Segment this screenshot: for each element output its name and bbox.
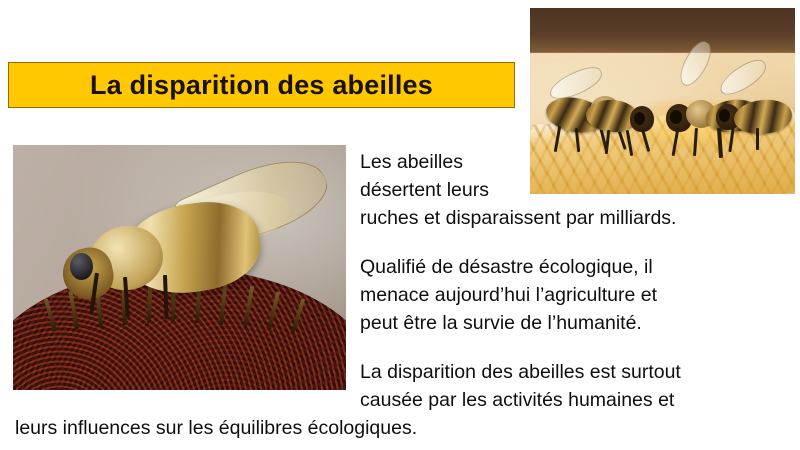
bee-eye (670, 110, 682, 124)
bee-on-flower-photo (13, 145, 346, 390)
honeycomb-background-band (530, 8, 795, 56)
paragraph-three: La disparition des abeilles est surtout … (360, 358, 790, 414)
paragraph-one: Les abeilles désertent leurs ruches et d… (360, 148, 790, 232)
slide-canvas: La disparition des abeilles (0, 0, 800, 450)
paragraph-four: leurs influences sur les équilibres écol… (15, 414, 615, 442)
paragraph-two: Qualifié de désastre écologique, il mena… (360, 253, 790, 337)
bee-eye (719, 109, 730, 122)
bee-abdomen (733, 98, 793, 136)
bee-eye (70, 253, 93, 280)
page-title: La disparition des abeilles (90, 70, 433, 101)
bee-eye (634, 112, 645, 125)
title-banner: La disparition des abeilles (8, 62, 515, 108)
bee-right-rear (716, 84, 795, 144)
bee-leg (756, 128, 759, 150)
bee-left-front (586, 92, 664, 148)
